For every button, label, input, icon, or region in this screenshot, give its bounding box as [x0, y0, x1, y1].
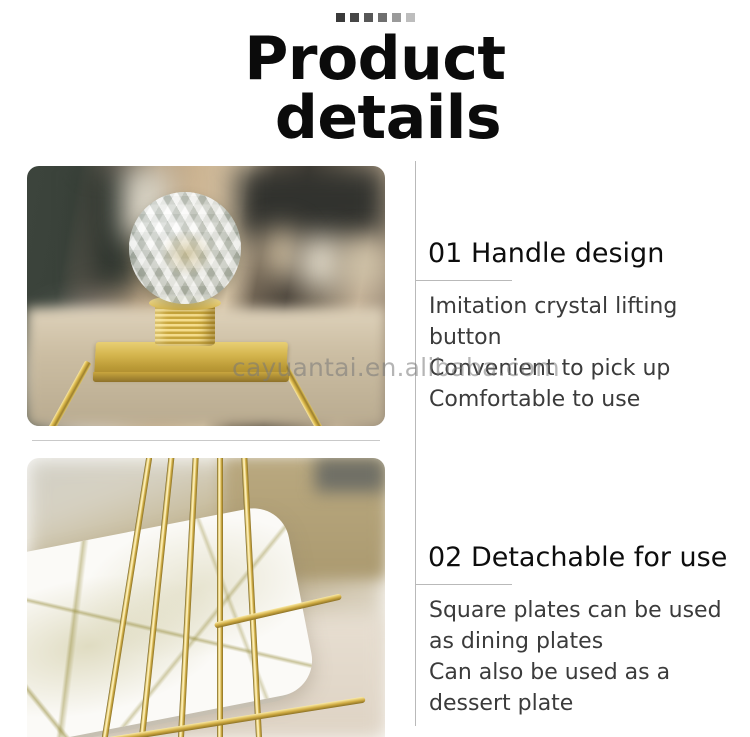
photo1-blur-shape [299, 236, 343, 288]
photo1-blur-shape [263, 228, 301, 278]
gold-plate-edge [93, 372, 290, 382]
section-heading: 01 Handle design [416, 237, 746, 271]
crystal-knob-scene [27, 166, 385, 426]
heading-underline [416, 280, 512, 281]
gradient-square-icon [364, 13, 373, 22]
crystal-warm-reflection [160, 230, 214, 277]
page-header: Product details [0, 0, 750, 152]
detail-section-02: 02 Detachable for use Square plates can … [416, 541, 746, 719]
page-title: Product details [0, 30, 750, 148]
gradient-square-icon [406, 13, 415, 22]
photo2-blur-shape [315, 458, 385, 492]
photo1-blur-shape [237, 166, 385, 238]
marble-plate-photo[interactable] [27, 458, 385, 737]
heading-underline [416, 584, 512, 585]
page-title-line-1: Product [0, 30, 750, 89]
photo1-blur-shape [343, 240, 383, 288]
detail-section-01: 01 Handle design Imitation crystal lifti… [416, 237, 746, 415]
body-line: Can also be used as a [429, 657, 746, 688]
media-divider [32, 440, 380, 441]
section-body: Imitation crystal lifting button Conveni… [416, 291, 746, 415]
decorative-dot-row [0, 13, 750, 22]
body-line: Convenient to pick up [429, 353, 746, 384]
media-column [0, 152, 400, 737]
body-line: dessert plate [429, 688, 746, 719]
section-body: Square plates can be used as dining plat… [416, 595, 746, 719]
gold-knob-neck [155, 304, 215, 346]
gold-wire [217, 458, 223, 737]
body-line: button [429, 322, 746, 353]
body-line: Square plates can be used [429, 595, 746, 626]
section-heading: 02 Detachable for use [416, 541, 746, 575]
gradient-square-icon [378, 13, 387, 22]
page-title-line-2: details [26, 89, 750, 148]
gradient-square-icon [392, 13, 401, 22]
body-line: Imitation crystal lifting [429, 291, 746, 322]
crystal-knob-photo[interactable] [27, 166, 385, 426]
marble-plate-scene [27, 458, 385, 737]
crystal-ball-knob [129, 192, 241, 304]
content-area: 01 Handle design Imitation crystal lifti… [0, 152, 750, 737]
gradient-square-icon [350, 13, 359, 22]
text-column: 01 Handle design Imitation crystal lifti… [400, 152, 750, 737]
body-line: as dining plates [429, 626, 746, 657]
gradient-square-icon [336, 13, 345, 22]
body-line: Comfortable to use [429, 384, 746, 415]
